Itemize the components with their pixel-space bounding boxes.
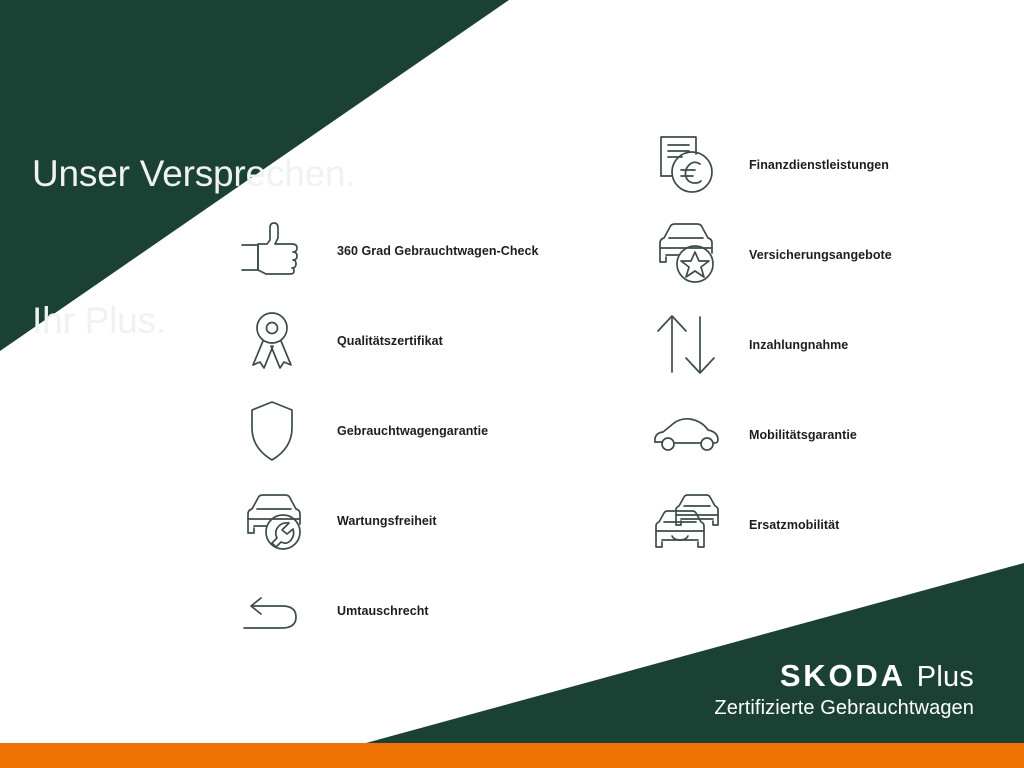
car-wrench-icon — [236, 488, 308, 554]
feature-item-trade-in: Inzahlungnahme — [650, 300, 892, 390]
car-star-icon — [650, 222, 722, 288]
skoda-wordmark: SKODA — [780, 660, 906, 691]
feature-list-left: 360 Grad Gebrauchtwagen-Check Qualitätsz… — [236, 206, 539, 656]
plus-wordmark: Plus — [917, 663, 974, 692]
car-side-icon — [650, 402, 722, 468]
skoda-plus-logo: SKODA Plus Zertifizierte Gebrauchtwagen — [714, 660, 974, 720]
feature-item-quality-certificate: Qualitätszertifikat — [236, 296, 539, 386]
logo-tagline: Zertifizierte Gebrauchtwagen — [714, 697, 974, 720]
feature-list-right: Finanzdienstleistungen Versicherungsange… — [650, 120, 892, 570]
promo-banner: Unser Versprechen. Ihr Plus. 360 Grad Ge… — [0, 0, 1024, 768]
feature-item-maintenance-free: Wartungsfreiheit — [236, 476, 539, 566]
feature-item-warranty: Gebrauchtwagengarantie — [236, 386, 539, 476]
feature-item-replacement-mobility: Ersatzmobilität — [650, 480, 892, 570]
feature-label: Versicherungsangebote — [749, 248, 892, 262]
up-down-arrows-icon — [650, 312, 722, 378]
feature-label: Umtauschrecht — [337, 604, 429, 618]
feature-label: Mobilitätsgarantie — [749, 428, 857, 442]
feature-item-360-check: 360 Grad Gebrauchtwagen-Check — [236, 206, 539, 296]
shield-icon — [236, 398, 308, 464]
orange-footer-bar — [0, 743, 1024, 768]
feature-label: Ersatzmobilität — [749, 518, 839, 532]
document-euro-icon — [650, 132, 722, 198]
logo-primary-line: SKODA Plus — [714, 660, 974, 692]
feature-label: Finanzdienstleistungen — [749, 158, 889, 172]
feature-item-financial-services: Finanzdienstleistungen — [650, 120, 892, 210]
feature-item-mobility-guarantee: Mobilitätsgarantie — [650, 390, 892, 480]
return-arrow-icon — [236, 578, 308, 644]
feature-label: Wartungsfreiheit — [337, 514, 437, 528]
thumbs-up-icon — [236, 218, 308, 284]
page-title-line-1: Unser Versprechen. — [32, 149, 355, 198]
feature-item-insurance: Versicherungsangebote — [650, 210, 892, 300]
feature-label: Inzahlungnahme — [749, 338, 848, 352]
award-rosette-icon — [236, 308, 308, 374]
feature-label: Qualitätszertifikat — [337, 334, 443, 348]
feature-item-return-right: Umtauschrecht — [236, 566, 539, 656]
two-cars-icon — [650, 492, 722, 558]
feature-label: 360 Grad Gebrauchtwagen-Check — [337, 244, 539, 258]
feature-label: Gebrauchtwagengarantie — [337, 424, 488, 438]
